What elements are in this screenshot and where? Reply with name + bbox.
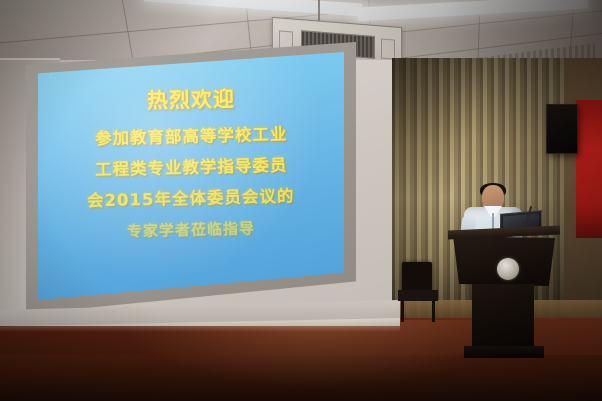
institutional-seal	[497, 258, 519, 280]
wooden-lectern	[448, 228, 560, 358]
slide-line-3: 会2015年全体委员会议的	[87, 182, 295, 211]
chair-backrest	[402, 262, 432, 292]
red-wall-banner	[576, 100, 602, 238]
chair-leg-left	[401, 300, 404, 322]
slide-line-4: 专家学者莅临指导	[127, 217, 255, 241]
conference-hall-photo: 热烈欢迎 参加教育部高等学校工业 工程类专业教学指导委员 会2015年全体委员会…	[0, 0, 602, 401]
lectern-front-panel	[453, 236, 555, 286]
wall-mounted-loudspeaker	[546, 104, 578, 154]
chair-leg-right	[432, 300, 435, 322]
lectern-column	[472, 284, 534, 352]
slide-line-1: 参加教育部高等学校工业	[94, 121, 287, 150]
lectern-base	[464, 346, 544, 358]
slide-line-2: 工程类专业教学指导委员	[94, 152, 287, 181]
dark-chair	[398, 262, 438, 324]
slide-text-block: 热烈欢迎 参加教育部高等学校工业 工程类专业教学指导委员 会2015年全体委员会…	[38, 52, 344, 300]
projection-screen: 热烈欢迎 参加教育部高等学校工业 工程类专业教学指导委员 会2015年全体委员会…	[38, 52, 344, 300]
slide-title: 热烈欢迎	[147, 83, 236, 115]
